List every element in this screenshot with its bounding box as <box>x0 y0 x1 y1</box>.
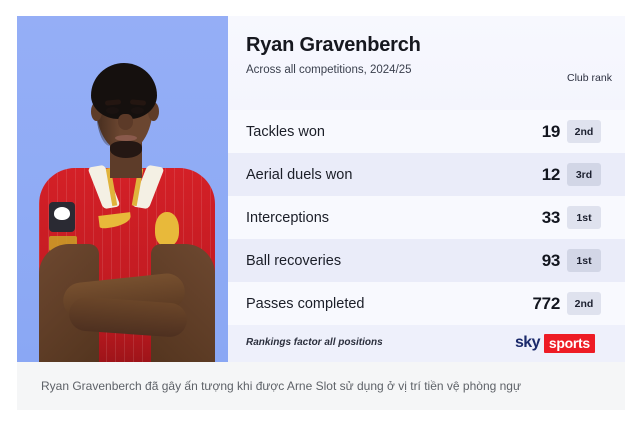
liverbird-crest-icon <box>155 212 179 246</box>
table-row: Tackles won 19 2nd <box>228 110 625 153</box>
status-badge: 2nd <box>567 120 601 143</box>
eye-left <box>106 107 119 114</box>
stat-value: 772 <box>438 294 560 314</box>
hair <box>91 63 157 119</box>
stats-rows: Tackles won 19 2nd Aerial duels won 12 3… <box>228 110 625 325</box>
sky-wordmark: sky <box>515 334 540 352</box>
stats-subtitle: Across all competitions, 2024/25 <box>246 64 412 76</box>
status-badge: 2nd <box>567 292 601 315</box>
premier-league-badge-icon <box>49 202 75 232</box>
stat-label: Ball recoveries <box>246 253 341 269</box>
nose <box>118 114 133 130</box>
rankings-note: Rankings factor all positions <box>246 337 383 348</box>
page-title: Ryan Gravenberch <box>246 34 421 57</box>
eye-right <box>131 107 144 114</box>
stat-value: 93 <box>438 251 560 271</box>
screenshot-root: LFC <box>0 0 642 429</box>
stats-graphic-card: LFC <box>17 16 625 362</box>
status-badge: 1st <box>567 249 601 272</box>
stat-value: 19 <box>438 122 560 142</box>
status-badge: 1st <box>567 206 601 229</box>
stat-label: Passes completed <box>246 296 364 312</box>
stat-value: 12 <box>438 165 560 185</box>
stat-label: Tackles won <box>246 124 325 140</box>
player-photo: LFC <box>17 16 228 362</box>
table-row: Interceptions 33 1st <box>228 196 625 239</box>
mouth <box>115 135 137 141</box>
player-figure: LFC <box>17 16 228 362</box>
sky-sports-logo: sky sports <box>515 333 595 353</box>
sports-wordmark: sports <box>544 334 595 353</box>
stats-footer: Rankings factor all positions sky sports <box>228 325 625 362</box>
table-row: Aerial duels won 12 3rd <box>228 153 625 196</box>
caption-bar: Ryan Gravenberch đã gây ấn tượng khi đượ… <box>17 362 625 410</box>
table-row: Ball recoveries 93 1st <box>228 239 625 282</box>
stat-value: 33 <box>438 208 560 228</box>
status-badge: 3rd <box>567 163 601 186</box>
club-rank-column-header: Club rank <box>567 71 613 85</box>
beard <box>110 141 142 158</box>
caption-text: Ryan Gravenberch đã gây ấn tượng khi đượ… <box>17 379 521 393</box>
table-row: Passes completed 772 2nd <box>228 282 625 325</box>
stats-header: Ryan Gravenberch Across all competitions… <box>228 16 625 110</box>
stat-label: Interceptions <box>246 210 329 226</box>
stat-label: Aerial duels won <box>246 167 352 183</box>
stats-panel: Ryan Gravenberch Across all competitions… <box>228 16 625 362</box>
